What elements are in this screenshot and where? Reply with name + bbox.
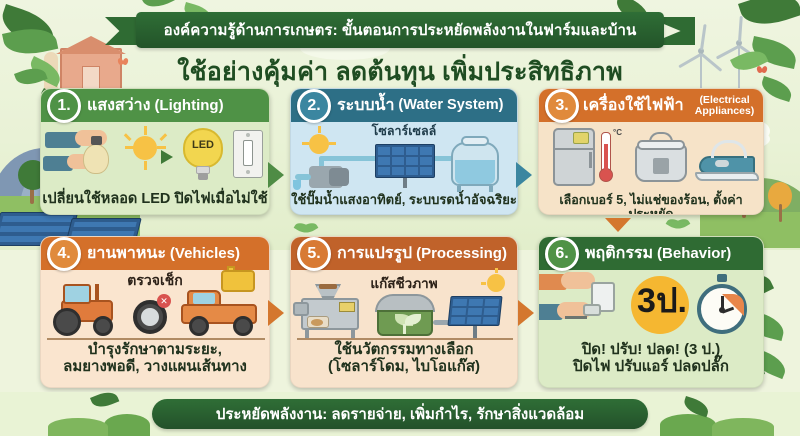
energy-label-badge <box>573 132 589 144</box>
card-body: ตรวจเช็ก ✕ <box>41 270 269 388</box>
sun-ray <box>481 282 486 285</box>
card-title-en: (Lighting) <box>154 98 223 113</box>
ground-line <box>297 338 513 340</box>
card-illustration: °C <box>539 122 763 190</box>
arrow-card1-to-card2 <box>268 162 284 188</box>
step-number-badge: 1. <box>47 89 81 123</box>
card-body: โซลาร์เซลล์ <box>291 122 517 215</box>
header-ribbon-text: องค์ความรู้ด้านการเกษตร: ขั้นตอนการประหย… <box>164 18 637 42</box>
card-illustration: โซลาร์เซลล์ <box>291 122 517 190</box>
tractor-rear-wheel <box>53 308 81 336</box>
card-title: ยานพาหนะ (Vehicles) <box>87 241 240 266</box>
card-title-th: เครื่องใช้ไฟฟ้า <box>583 93 684 118</box>
card-body: °C เลือกเบอร์ 5, ไม่แช่ของร้อน, ตั้งค่าป… <box>539 122 763 215</box>
card-illustration: ตรวจเช็ก ✕ <box>41 270 269 340</box>
tyre-rim <box>141 308 159 326</box>
iron-sole <box>695 172 759 181</box>
arrow-card5-to-card6 <box>518 300 534 326</box>
card-behavior[interactable]: 6. พฤติกรรม (Behavior) 3ป. <box>538 236 764 388</box>
switch-screw <box>246 133 250 137</box>
sun-ray <box>318 126 321 133</box>
tank-lid <box>461 136 489 146</box>
sun-ray <box>144 126 147 135</box>
footer-text: ประหยัดพลังงาน: ลดรายจ่าย, เพิ่มกำไร, รั… <box>216 402 584 426</box>
card-lighting[interactable]: 1. แสงสว่าง (Lighting) <box>40 88 270 215</box>
engine-check-icon <box>221 270 255 292</box>
tyre-alert-badge: ✕ <box>157 294 171 308</box>
sun-icon <box>487 274 505 292</box>
card-header: 3. เครื่องใช้ไฟฟ้า (Electrical Appliance… <box>539 89 763 122</box>
tractor-exhaust <box>95 284 99 302</box>
step-number-badge: 2. <box>297 89 331 123</box>
card-header: 5. การแปรรูป (Processing) <box>291 237 517 270</box>
plug-head <box>583 304 601 316</box>
tank-leg <box>457 186 461 192</box>
caption-line-2: (โซลาร์โดม, ไบโอแก๊ส) <box>291 359 517 376</box>
bush <box>712 418 774 436</box>
tank-leg <box>489 186 493 192</box>
iron-dial <box>715 160 729 167</box>
ground-line <box>47 338 265 340</box>
fridge-divider <box>553 148 595 150</box>
card-title: ระบบน้ำ (Water System) <box>337 93 503 118</box>
step-number-badge: 6. <box>545 237 579 271</box>
dome-stem <box>403 324 406 334</box>
leaf <box>90 388 119 411</box>
sun-ray <box>302 142 309 145</box>
card-body: LED เปลี่ยนใช้หลอด LED ปิดไฟเมื่อไม่ใช้ <box>41 122 269 215</box>
truck-front-wheel <box>233 316 253 336</box>
iron-handle <box>711 140 747 158</box>
tractor-cab <box>63 284 91 304</box>
infographic-canvas: องค์ความรู้ด้านการเกษตร: ขั้นตอนการประหย… <box>0 0 800 436</box>
caption-line-1: ปิด! ปรับ! ปลด! (3 ป.) <box>539 342 763 359</box>
solar-panel-stand <box>403 178 407 188</box>
card-title-th: แสงสว่าง <box>87 93 150 118</box>
tree-trunk <box>779 204 782 222</box>
sun-icon <box>133 136 157 160</box>
led-label: LED <box>183 139 223 151</box>
card-title-th: พฤติกรรม <box>585 241 653 266</box>
cooker-handle <box>649 132 673 142</box>
pellet <box>311 319 323 326</box>
arrow-row1-to-row2 <box>605 218 631 232</box>
machine-barrel <box>293 302 309 316</box>
card-title: พฤติกรรม (Behavior) <box>585 241 731 266</box>
header-banner: องค์ความรู้ด้านการเกษตร: ขั้นตอนการประหย… <box>0 12 800 48</box>
footer-banner: ประหยัดพลังงาน: ลดรายจ่าย, เพิ่มกำไร, รั… <box>152 399 648 429</box>
sun-ray <box>157 146 166 149</box>
card-header: 1. แสงสว่าง (Lighting) <box>41 89 269 122</box>
card-title-en: (Vehicles) <box>170 246 240 261</box>
caption-line-1: เลือกเบอร์ 5, ไม่แช่ของร้อน, ตั้งค่าประห… <box>539 193 763 215</box>
truck-window <box>193 293 215 304</box>
led-bulb-screw <box>198 173 208 180</box>
solar-panel-stand <box>473 326 477 338</box>
arrow-card2-to-card3 <box>516 162 532 188</box>
card-illustration: แก๊สชีวภาพ <box>291 270 517 340</box>
sun-ray <box>495 268 498 273</box>
fridge-handle <box>589 152 592 168</box>
card-title-en: (Processing) <box>416 246 507 261</box>
card-caption: ใช้นวัตกรรมทางเลือก (โซลาร์โดม, ไบโอแก๊ส… <box>291 340 517 376</box>
card-caption: บำรุงรักษาตามระยะ, ลมยางพอดี, วางแผนเส้น… <box>41 340 269 376</box>
machine-leg <box>305 330 309 338</box>
engine-detail <box>227 266 235 272</box>
card-caption: ปิด! ปรับ! ปลด! (3 ป.) ปิดไฟ ปรับแอร์ ปล… <box>539 340 763 376</box>
card-title: แสงสว่าง (Lighting) <box>87 93 224 118</box>
card-vehicles[interactable]: 4. ยานพาหนะ (Vehicles) ตรวจเช็ก ✕ <box>40 236 270 388</box>
card-header: 2. ระบบน้ำ (Water System) <box>291 89 517 122</box>
step-number-badge: 4. <box>47 237 81 271</box>
card-caption: เลือกเบอร์ 5, ไม่แช่ของร้อน, ตั้งค่าประห… <box>539 190 763 215</box>
caption-line-1: บำรุงรักษาตามระยะ, <box>41 342 269 359</box>
solar-panel <box>375 144 435 178</box>
incandescent-bulb <box>83 144 109 174</box>
card-illustration: LED <box>41 122 269 188</box>
transition-arrow-icon <box>161 150 173 164</box>
card-title-th: การแปรรูป <box>337 241 412 266</box>
card-title-en: (Water System) <box>398 98 503 113</box>
card-caption: เปลี่ยนใช้หลอด LED ปิดไฟเมื่อไม่ใช้ <box>41 188 269 207</box>
cooker-panel <box>653 158 669 174</box>
card-body: 3ป. ปิด! ปรับ! ปลด! (3 ป.) ปิดไฟ ปรับแอร… <box>539 270 763 388</box>
bush <box>660 414 716 436</box>
card-body: แก๊สชีวภาพ <box>291 270 517 388</box>
plug-cable <box>565 316 587 319</box>
caption-line-1: เปลี่ยนใช้หลอด LED ปิดไฟเมื่อไม่ใช้ <box>41 191 269 207</box>
card-caption: ใช้ปั๊มน้ำแสงอาทิตย์, ระบบรดน้ำอัจฉริยะ <box>291 190 517 208</box>
pump-motor <box>329 168 349 186</box>
card-title-th: ระบบน้ำ <box>337 93 394 118</box>
card-water-system[interactable]: 2. ระบบน้ำ (Water System) โซลาร์เซลล์ <box>290 88 518 215</box>
bulb-base <box>91 136 102 145</box>
sun-ray <box>124 133 132 141</box>
thermometer-mercury <box>604 144 608 172</box>
card-title-en: (Electrical Appliances) <box>688 95 762 116</box>
solar-panel <box>447 296 502 326</box>
page-subtitle: ใช้อย่างคุ้มค่า ลดต้นทุน เพิ่มประสิทธิภา… <box>0 52 800 92</box>
caption-line-2: ปิดไฟ ปรับแอร์ ปลดปลั๊ก <box>539 359 763 376</box>
truck-rear-wheel <box>189 316 209 336</box>
card-title: เครื่องใช้ไฟฟ้า (Electrical Appliances) <box>583 93 762 118</box>
card-processing[interactable]: 5. การแปรรูป (Processing) แก๊สชีวภาพ <box>290 236 518 388</box>
hopper-contents <box>319 284 337 289</box>
switch-screw <box>246 170 250 174</box>
card-electrical-appliances[interactable]: 3. เครื่องใช้ไฟฟ้า (Electrical Appliance… <box>538 88 764 215</box>
water-stream <box>293 180 301 190</box>
switch-toggle <box>243 140 253 166</box>
step-number-badge: 5. <box>297 237 331 271</box>
caption-line-1: ใช้นวัตกรรมทางเลือก <box>291 342 517 359</box>
celsius-label: °C <box>613 128 622 137</box>
tank-water <box>455 160 495 184</box>
bush <box>104 414 150 436</box>
sun-ray <box>144 161 147 170</box>
machine-leg <box>351 330 355 338</box>
arrow-card4-to-card5 <box>268 300 284 326</box>
card-header: 6. พฤติกรรม (Behavior) <box>539 237 763 270</box>
sun-ray <box>329 142 336 145</box>
three-por-text: 3ป. <box>625 284 699 318</box>
card-title-en: (Behavior) <box>657 246 731 261</box>
step-number-badge: 3. <box>545 89 579 123</box>
sun-ray <box>125 146 134 149</box>
ribbon: องค์ความรู้ด้านการเกษตร: ขั้นตอนการประหย… <box>136 12 664 48</box>
card-title: การแปรรูป (Processing) <box>337 241 507 266</box>
stopwatch-crown <box>717 274 727 282</box>
sun-ray <box>159 133 167 141</box>
bush <box>48 418 108 436</box>
hand <box>561 272 595 289</box>
caption-line-2: ลมยางพอดี, วางแผนเส้นทาง <box>41 359 269 376</box>
tractor-front-wheel <box>93 316 113 336</box>
card-illustration: 3ป. <box>539 270 763 340</box>
sun-icon <box>309 134 329 154</box>
machine-display <box>339 302 355 312</box>
card-title-th: ยานพาหนะ <box>87 241 166 266</box>
stopwatch-center <box>719 307 725 313</box>
caption-line-1: ใช้ปั๊มน้ำแสงอาทิตย์, ระบบรดน้ำอัจฉริยะ <box>291 193 517 208</box>
